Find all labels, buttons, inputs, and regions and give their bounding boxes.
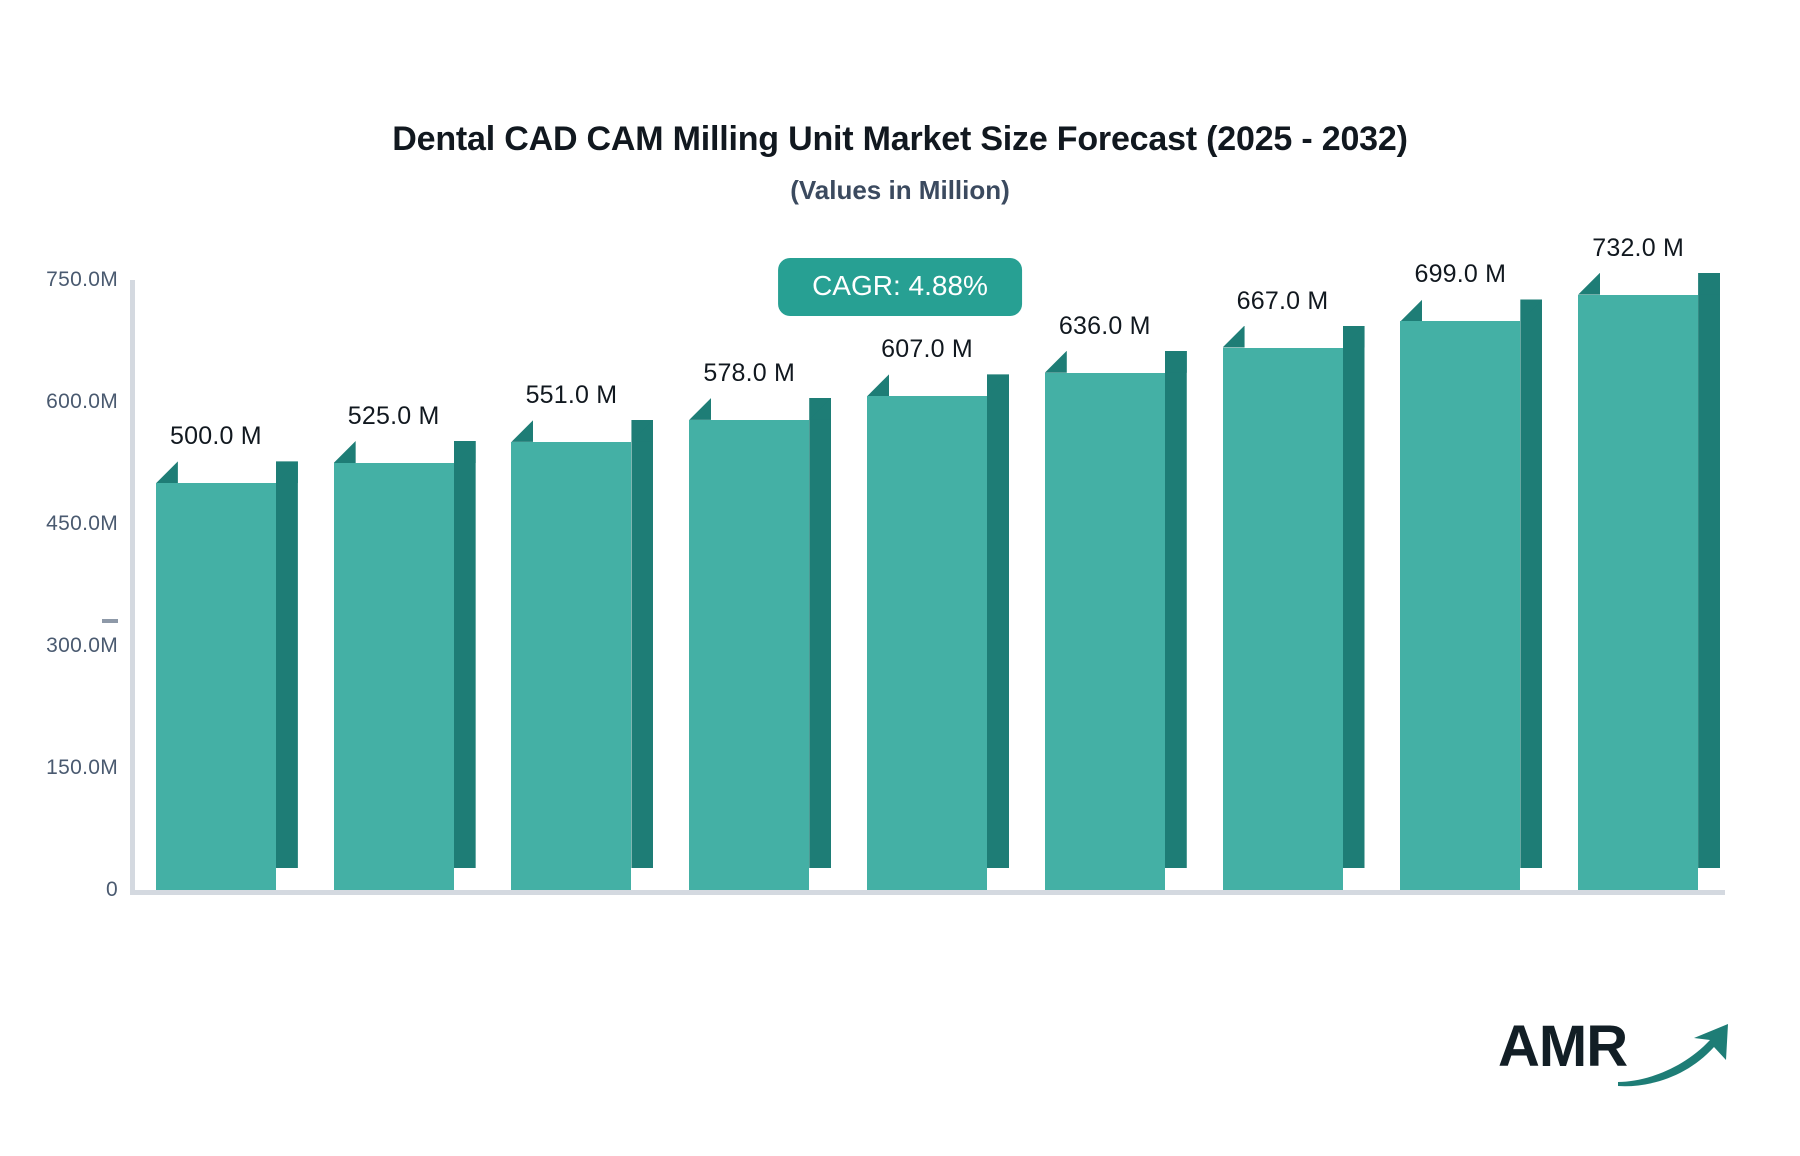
bar-front-face — [156, 483, 276, 890]
bar-front-face — [1223, 348, 1343, 890]
bar-top-left-chamfer — [1045, 351, 1067, 373]
bar-series: 500.0 M2025525.0 M2026551.0 M2027578.0 M… — [130, 270, 1730, 895]
page-title: Dental CAD CAM Milling Unit Market Size … — [0, 120, 1800, 159]
bar-2032[interactable]: 699.0 M2032 — [1400, 299, 1520, 890]
bar-2033[interactable]: 732.0 M2033 — [1578, 273, 1698, 890]
bar-front-face — [689, 420, 809, 890]
bar-2027[interactable]: 551.0 M2027 — [511, 420, 631, 890]
bar-2029[interactable]: 607.0 M2029 — [867, 374, 987, 890]
bar-top-left-chamfer — [689, 398, 711, 420]
bar-value-label: 500.0 M — [170, 422, 262, 451]
bar-top-left-chamfer — [1578, 273, 1600, 295]
amr-logo: AMR — [1498, 1014, 1748, 1094]
bar-value-label: 732.0 M — [1592, 234, 1684, 263]
bar-value-label: 607.0 M — [881, 335, 973, 364]
amr-logo-text: AMR — [1498, 1018, 1627, 1076]
chart-subtitle: (Values in Million) — [0, 175, 1800, 206]
growth-arrow-icon — [1616, 1020, 1746, 1090]
bar-top-left-chamfer — [1223, 326, 1245, 348]
y-axis-tick-label: 600.0M — [6, 390, 118, 414]
y-axis-tick-labels: 750.0M600.0M450.0M300.0M150.0M0 — [0, 270, 118, 895]
y-axis-tick-label: 450.0M — [6, 512, 118, 536]
bar-front-face — [867, 396, 987, 890]
bar-side-face — [1165, 351, 1187, 868]
bar-side-face — [631, 420, 653, 868]
bar-front-face — [1578, 295, 1698, 890]
bar-value-label: 551.0 M — [526, 381, 618, 410]
y-axis-tick-label: 300.0M — [6, 634, 118, 658]
bar-top-left-chamfer — [334, 441, 356, 463]
bar-value-label: 667.0 M — [1237, 287, 1329, 316]
y-axis-tick-label: 0 — [6, 878, 118, 902]
bar-2026[interactable]: 525.0 M2026 — [334, 441, 454, 890]
bar-top-left-chamfer — [867, 374, 889, 396]
bar-value-label: 699.0 M — [1414, 260, 1506, 289]
bar-2028[interactable]: 578.0 M2028 — [689, 398, 809, 890]
y-axis-tick-label: 750.0M — [6, 268, 118, 292]
bar-front-face — [1045, 373, 1165, 890]
bar-front-face — [511, 442, 631, 890]
bar-value-label: 578.0 M — [703, 359, 795, 388]
bar-side-face — [987, 374, 1009, 868]
bar-value-label: 636.0 M — [1059, 312, 1151, 341]
bar-top-left-chamfer — [1400, 299, 1422, 321]
bar-front-face — [1400, 321, 1520, 890]
bar-top-left-chamfer — [156, 461, 178, 483]
bar-side-face — [1520, 299, 1542, 868]
chart-canvas: Dental CAD CAM Milling Unit Market Size … — [0, 0, 1800, 1156]
plot-area: 500.0 M2025525.0 M2026551.0 M2027578.0 M… — [130, 270, 1730, 895]
bar-side-face — [454, 441, 476, 868]
bar-value-label: 525.0 M — [348, 402, 440, 431]
bar-front-face — [334, 463, 454, 890]
y-axis-zero-tick — [102, 619, 118, 623]
bar-side-face — [1343, 326, 1365, 868]
bar-side-face — [276, 461, 298, 868]
bar-2030[interactable]: 636.0 M2030 — [1045, 351, 1165, 890]
y-axis-tick-label: 150.0M — [6, 756, 118, 780]
bar-2025[interactable]: 500.0 M2025 — [156, 461, 276, 890]
bar-side-face — [1698, 273, 1720, 868]
bar-2031[interactable]: 667.0 M2031 — [1223, 326, 1343, 890]
bar-top-left-chamfer — [511, 420, 533, 442]
bar-side-face — [809, 398, 831, 868]
